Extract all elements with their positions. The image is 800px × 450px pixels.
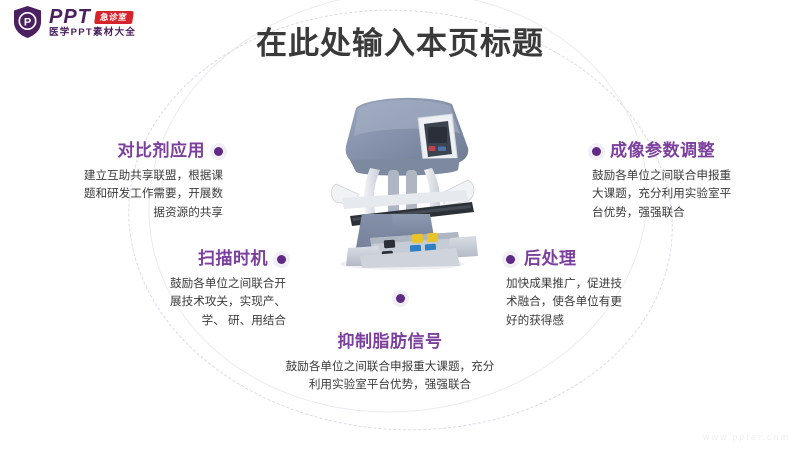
callout-fat-suppression: 抑制脂肪信号 鼓励各单位之间联合申报重大课题，充分 利用实验室平台优势，强强联合 xyxy=(240,333,540,395)
callout-fat-suppression-heading: 抑制脂肪信号 xyxy=(338,333,443,352)
bullet-dot-icon xyxy=(506,255,515,264)
callout-imaging-parameters-heading: 成像参数调整 xyxy=(610,142,715,161)
callout-imaging-parameters: 成像参数调整 鼓励各单位之间联合申报重 大课题，充分利用实验室平 台优势，强强联… xyxy=(592,142,800,223)
callout-imaging-parameters-body: 鼓励各单位之间联合申报重 大课题，充分利用实验室平 台优势，强强联合 xyxy=(592,167,800,223)
callout-contrast-heading: 对比剂应用 xyxy=(118,142,206,161)
callout-scan-body: 鼓励各单位之间联合开 展技术攻关，实现产、 学、 研、用结合 xyxy=(96,275,286,331)
callout-post-processing-heading: 后处理 xyxy=(524,250,577,269)
callout-contrast-body: 建立互助共享联盟，根据课 题和研发工作需要，开展数 据资源的共享 xyxy=(8,167,223,223)
callout-scan-heading: 扫描时机 xyxy=(198,250,268,269)
bullet-dot-icon xyxy=(277,255,286,264)
bullet-dot-icon xyxy=(592,147,601,156)
callout-fat-suppression-head: 抑制脂肪信号 xyxy=(240,333,540,352)
surgical-robot-console-image xyxy=(300,88,505,273)
callout-scan: 扫描时机 鼓励各单位之间联合开 展技术攻关，实现产、 学、 研、用结合 xyxy=(96,250,286,331)
callout-contrast-head: 对比剂应用 xyxy=(8,142,223,161)
slide-canvas: P PPT 急诊室 医学PPT素材大全 在此处输入本页标题 xyxy=(0,0,800,450)
callout-imaging-parameters-head: 成像参数调整 xyxy=(592,142,800,161)
callout-post-processing-body: 加快成果推广，促进技 术融合，使各单位有更 好的获得感 xyxy=(506,275,706,331)
callout-fat-suppression-body: 鼓励各单位之间联合申报重大课题，充分 利用实验室平台优势，强强联合 xyxy=(240,358,540,396)
bullet-dot-icon xyxy=(214,147,223,156)
callout-contrast: 对比剂应用 建立互助共享联盟，根据课 题和研发工作需要，开展数 据资源的共享 xyxy=(8,142,223,223)
callout-post-processing: 后处理 加快成果推广，促进技 术融合，使各单位有更 好的获得感 xyxy=(506,250,706,331)
callout-post-processing-head: 后处理 xyxy=(506,250,706,269)
bullet-dot-icon xyxy=(396,294,405,303)
site-watermark: www.ppter.com xyxy=(703,432,790,442)
page-title: 在此处输入本页标题 xyxy=(0,18,800,63)
callout-scan-head: 扫描时机 xyxy=(96,250,286,269)
